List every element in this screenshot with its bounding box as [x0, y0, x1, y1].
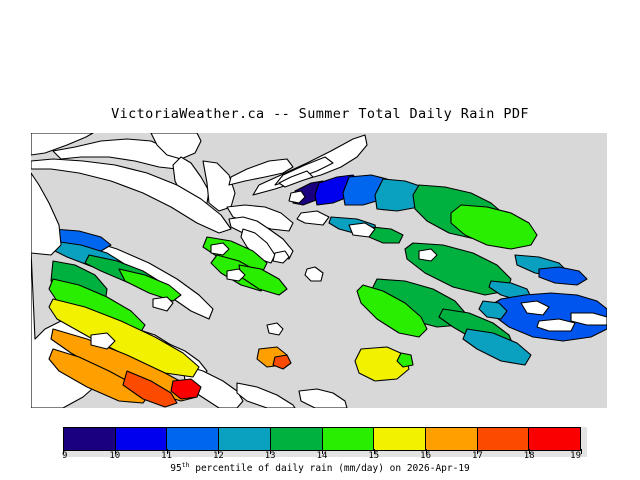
colorbar-segment-18-19[interactable]: [529, 428, 580, 450]
caption-pre: 95: [170, 463, 181, 474]
colorbar-tick-label-14: 14: [317, 451, 328, 461]
colorbar-tick-label-17: 17: [472, 451, 483, 461]
colorbar-segment-11-12[interactable]: [167, 428, 219, 450]
colorbar-segment-15-16[interactable]: [374, 428, 426, 450]
colorbar-caption: 95th percentile of daily rain (mm/day) o…: [0, 461, 640, 474]
colorbar-tick-label-12: 12: [213, 451, 224, 461]
colorbar-segments[interactable]: [63, 427, 581, 451]
colorbar-segment-14-15[interactable]: [323, 428, 375, 450]
colorbar-tick-label-19: 19: [570, 451, 581, 461]
colorbar-segment-12-13[interactable]: [219, 428, 271, 450]
screenshot-root: VictoriaWeather.ca -- Summer Total Daily…: [0, 0, 640, 480]
caption-superscript: th: [182, 461, 190, 469]
caption-post: percentile of daily rain (mm/day) on 202…: [190, 463, 470, 474]
page-title: VictoriaWeather.ca -- Summer Total Daily…: [0, 106, 640, 122]
colorbar-segment-16-17[interactable]: [426, 428, 478, 450]
colorbar-tick-label-11: 11: [161, 451, 172, 461]
weather-map[interactable]: [31, 133, 607, 408]
colorbar-tick-label-18: 18: [524, 451, 535, 461]
colorbar-tick-label-10: 10: [109, 451, 120, 461]
colorbar[interactable]: [63, 427, 581, 451]
colorbar-segment-9-10[interactable]: [64, 428, 116, 450]
colorbar-tick-label-15: 15: [368, 451, 379, 461]
colorbar-segment-17-18[interactable]: [478, 428, 530, 450]
colorbar-segment-10-11[interactable]: [116, 428, 168, 450]
colorbar-tick-label-13: 13: [265, 451, 276, 461]
colorbar-tick-label-9: 9: [62, 451, 67, 461]
map-svg: [31, 133, 607, 408]
colorbar-tick-label-16: 16: [420, 451, 431, 461]
colorbar-segment-13-14[interactable]: [271, 428, 323, 450]
